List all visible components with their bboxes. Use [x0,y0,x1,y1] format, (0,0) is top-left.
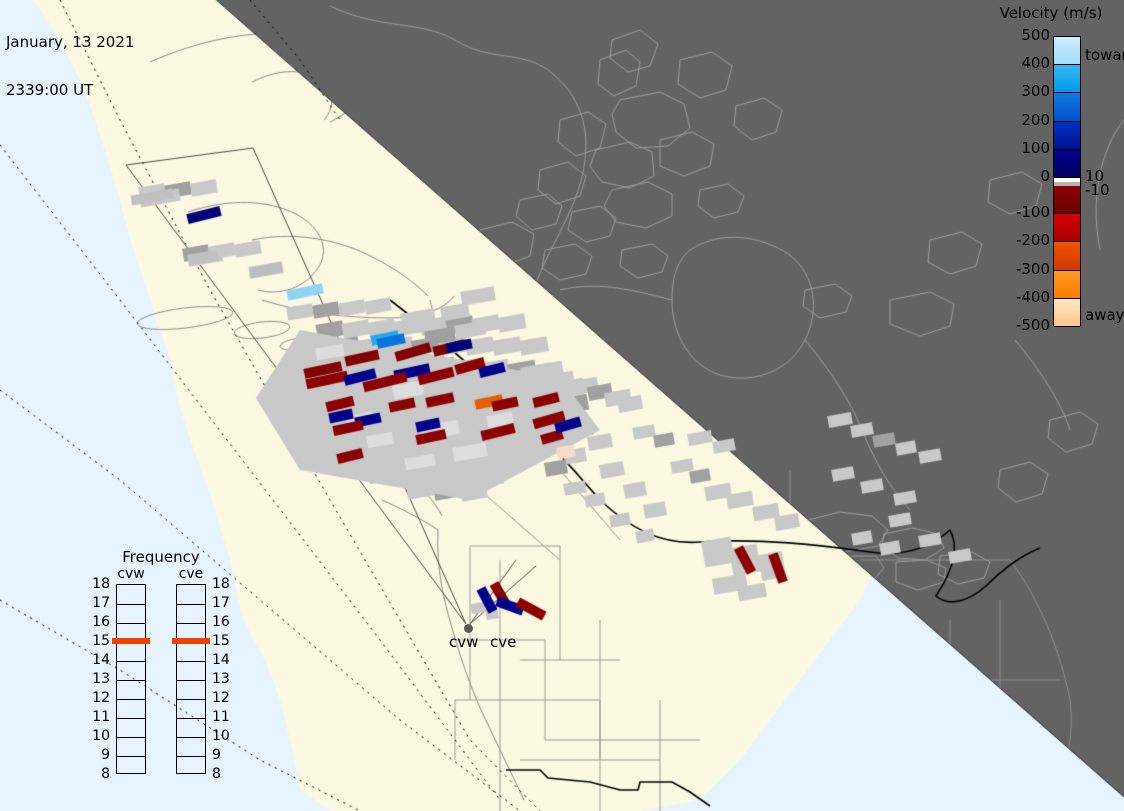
frequency-tick-label: 9 [86,748,110,762]
frequency-tick-label: 13 [212,672,236,686]
frequency-tick-label: 10 [86,729,110,743]
frequency-gridline [117,737,145,738]
frequency-tick-label: 12 [86,691,110,705]
colorbar-tick-label: -100 [990,205,1050,220]
frequency-tick-label: 11 [86,710,110,724]
frequency-gridline [117,718,145,719]
colorbar-segment [1054,150,1080,178]
frequency-tick-label: 14 [212,653,236,667]
colorbar-tick-label: 0 [990,169,1050,184]
frequency-tick-label: 15 [86,634,110,648]
frequency-tick-label: 17 [212,596,236,610]
frequency-gridline [177,604,205,605]
colorbar-tick-label: -300 [990,262,1050,277]
velocity-colorbar [1053,36,1081,326]
frequency-tick-label: 15 [212,634,236,648]
velocity-legend: Velocity (m/s) 5004003002001000-100-200-… [985,4,1124,334]
velocity-legend-title: Velocity (m/s) [985,4,1117,22]
colorbar-tick-label: -400 [990,290,1050,305]
frequency-marker-cve [172,638,210,644]
frequency-gridline [177,718,205,719]
frequency-scale-cve [176,584,206,774]
colorbar-segment [1054,271,1080,299]
frequency-tick-label: 8 [212,767,236,781]
frequency-scale-cvw [116,584,146,774]
colorbar-tick-label: -500 [990,318,1050,333]
colorbar-tick-label: 500 [990,28,1050,43]
frequency-tick-label: 9 [212,748,236,762]
frequency-gridline [117,661,145,662]
frequency-marker-cvw [112,638,150,644]
frequency-gridline [177,699,205,700]
frequency-gridline [117,623,145,624]
frequency-tick-label: 16 [212,615,236,629]
frequency-tick-label: 12 [212,691,236,705]
frequency-gridline [177,756,205,757]
colorbar-tick-label: 100 [990,141,1050,156]
colorbar-toward-label: toward [1085,48,1124,63]
frequency-column-label-cvw: cvw [111,566,151,582]
frequency-gridline [177,737,205,738]
frequency-legend-title: Frequency [86,548,236,566]
frequency-tick-label: 16 [86,615,110,629]
colorbar-zero-band [1054,178,1080,186]
frequency-gridline [117,756,145,757]
colorbar-segment [1054,37,1080,65]
site-label-cvw: cvw [449,633,478,651]
radar-site-marker [464,624,473,633]
frequency-tick-label: 8 [86,767,110,781]
colorbar-tick-label: 200 [990,113,1050,128]
frequency-gridline [177,680,205,681]
frequency-gridline [117,604,145,605]
frequency-tick-label: 13 [86,672,110,686]
frequency-tick-label: 18 [212,577,236,591]
colorbar-segment [1054,214,1080,242]
timestamp-date: January, 13 2021 [6,34,134,50]
colorbar-tick-label: -200 [990,233,1050,248]
superdarn-velocity-map: January, 13 2021 2339:00 UT Velocity (m/… [0,0,1124,811]
colorbar-away-label: away [1085,308,1124,323]
colorbar-segment [1054,122,1080,150]
colorbar-segment [1054,242,1080,270]
colorbar-tick-label: 400 [990,56,1050,71]
frequency-tick-label: 14 [86,653,110,667]
colorbar-segment [1054,65,1080,93]
colorbar-lower-threshold-label: -10 [1085,183,1110,198]
colorbar-tick-label: 300 [990,84,1050,99]
timestamp-time: 2339:00 UT [6,82,134,98]
site-label-cve: cve [490,633,516,651]
frequency-tick-label: 10 [212,729,236,743]
colorbar-segment [1054,93,1080,121]
colorbar-segment [1054,186,1080,214]
frequency-gridline [117,699,145,700]
frequency-gridline [117,680,145,681]
frequency-gridline [177,661,205,662]
frequency-tick-label: 18 [86,577,110,591]
colorbar-segment [1054,299,1080,327]
timestamp: January, 13 2021 2339:00 UT [6,2,134,130]
frequency-tick-label: 17 [86,596,110,610]
frequency-column-label-cve: cve [171,566,211,582]
frequency-gridline [177,623,205,624]
frequency-tick-label: 11 [212,710,236,724]
frequency-legend: Frequency cvw18171615141312111098cve1817… [86,548,236,783]
